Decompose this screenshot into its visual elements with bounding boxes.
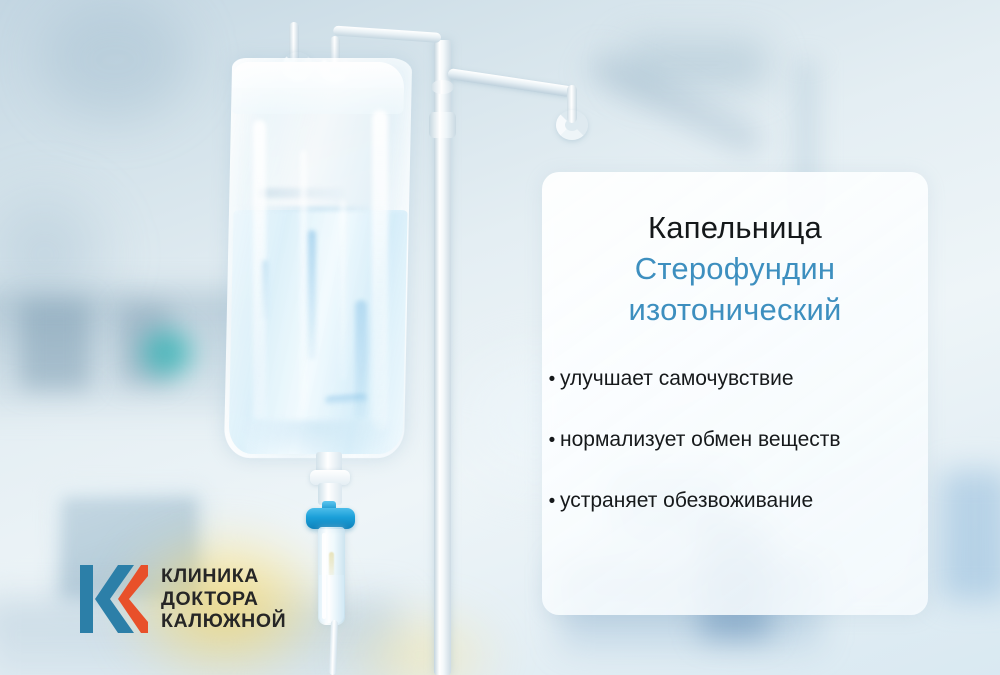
bullet-marker-icon: • [544,365,560,395]
clinic-logo-line-3: КАЛЮЖНОЙ [161,610,286,633]
list-item: •улучшает самочувствие [542,364,928,395]
iv-bag-highlight-2 [300,150,307,410]
bullet-marker-icon: • [544,426,560,456]
advertisement-banner: Капельница Стерофундин изотонический •ул… [0,0,1000,675]
list-item: •устраняет обезвоживание [542,486,928,517]
iv-bag-highlight-3 [372,110,388,430]
card-title-block: Капельница Стерофундин изотонический [542,208,928,330]
product-name-heading-line2: изотонический [542,289,928,330]
clinic-logo-line-1: КЛИНИКА [161,565,286,588]
benefit-text: устраняет обезвоживание [560,489,813,512]
product-type-heading: Капельница [542,208,928,248]
iv-stand-collar-upper [431,80,454,94]
benefit-text: улучшает самочувствие [560,367,794,390]
clinic-logo: КЛИНИКА ДОКТОРА КАЛЮЖНОЙ [78,556,318,642]
benefits-list: •улучшает самочувствие •нормализует обме… [542,364,928,547]
product-name-heading-line1: Стерофундин [542,248,928,289]
clinic-logo-line-2: ДОКТОРА [161,588,286,611]
bullet-marker-icon: • [544,487,560,517]
clinic-logo-mark-icon [78,560,148,638]
iv-bag-blue-streak-1 [308,230,316,360]
drip-chamber-highlight [322,533,326,619]
iv-bag-highlight-4 [340,200,346,380]
list-item: •нормализует обмен веществ [542,425,928,456]
clinic-logo-text: КЛИНИКА ДОКТОРА КАЛЮЖНОЙ [161,565,286,633]
drip-chamber-collar [306,508,355,529]
benefit-text: нормализует обмен веществ [560,428,841,451]
iv-bag-top-fold [231,62,404,114]
iv-hook-right-icon [556,110,588,140]
iv-bag-blue-streak-3 [262,260,268,320]
iv-stand-collar [429,112,456,138]
info-card: Капельница Стерофундин изотонический •ул… [542,172,928,615]
